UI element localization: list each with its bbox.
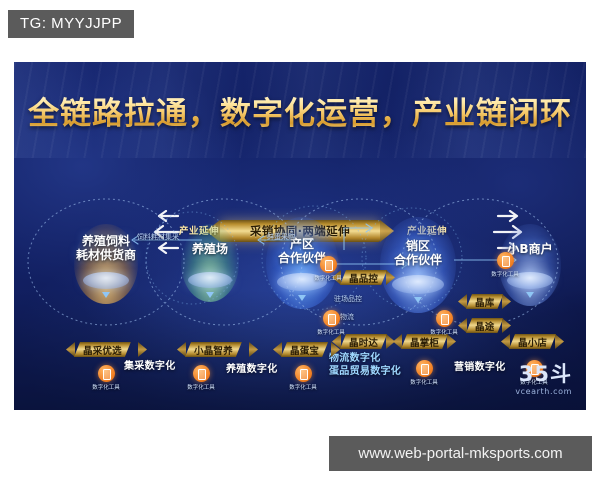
tool-supplier-label: 数字化工具 xyxy=(85,383,127,391)
tag-jingku[interactable]: 晶库 xyxy=(466,294,503,309)
node-supplier-title: 养殖饲料 耗材供货商 xyxy=(76,234,136,262)
tag-xiaojingzhiyang[interactable]: 小晶智养 xyxy=(185,342,242,357)
tool-seller-label: 数字化工具 xyxy=(403,378,445,386)
digital-tool-icon xyxy=(295,365,312,382)
tool-producer-label: 数字化工具 xyxy=(282,383,324,391)
caption-centralized-procurement: 集采数字化 xyxy=(124,357,176,372)
digital-tool-icon xyxy=(323,310,340,327)
caption-marketing-digital: 营销数字化 xyxy=(454,358,506,373)
node-seller-disc xyxy=(392,275,444,294)
tag-jingxiaodian-label: 晶小店 xyxy=(518,335,547,349)
tag-jingdanbao[interactable]: 晶蛋宝 xyxy=(281,342,328,357)
tool-warehouse-label: 数字化工具 xyxy=(484,270,526,278)
tool-farm[interactable]: 数字化工具 xyxy=(180,365,222,391)
node-farm-down-arrow xyxy=(206,292,214,298)
digital-tool-icon xyxy=(497,252,514,269)
tag-jingpinkong-label: 晶品控 xyxy=(349,271,378,285)
tag-jingcaiyouxuan[interactable]: 晶采优选 xyxy=(74,342,131,357)
tool-quality-label: 数字化工具 xyxy=(307,274,349,282)
caption-logistics-digital-line1: 物流数字化 xyxy=(329,353,401,366)
tag-jingshida[interactable]: 晶时达 xyxy=(340,334,387,349)
digital-tool-icon xyxy=(98,365,115,382)
tag-jingzhanggui[interactable]: 晶掌柜 xyxy=(401,334,448,349)
tool-route-label: 数字化工具 xyxy=(423,328,465,336)
node-supplier-title-line1: 养殖饲料 xyxy=(76,234,136,248)
tag-jingxiaodian[interactable]: 晶小店 xyxy=(509,334,556,349)
brand-logo-url: vcearth.com xyxy=(515,387,572,396)
flow-label-onsite-qc: 驻场品控 xyxy=(334,294,362,304)
node-seller-title: 销区 合作伙伴 xyxy=(394,239,442,267)
slide-image: 全链路拉通，数字化运营，产业链闭环 采销协同·两端延伸 产业延伸 产业延伸 xyxy=(14,62,586,410)
tag-jingzhanggui-label: 晶掌柜 xyxy=(410,335,439,349)
tool-seller[interactable]: 数字化工具 xyxy=(403,360,445,386)
node-seller-down-arrow xyxy=(414,297,422,303)
tool-logistics-label: 数字化工具 xyxy=(310,328,352,336)
tool-supplier[interactable]: 数字化工具 xyxy=(85,365,127,391)
tag-jingdanbao-label: 晶蛋宝 xyxy=(290,343,319,357)
node-farm-disc xyxy=(188,272,232,288)
node-seller-title-line1: 销区 xyxy=(394,239,442,253)
caption-logistics-digital-line2: 蛋品贸易数字化 xyxy=(329,366,401,379)
node-small-b-down-arrow xyxy=(526,292,534,298)
tg-tag: TG: MYYJJPP xyxy=(8,10,134,38)
flow-label-procurement: 饲料耗材集采 xyxy=(137,232,179,242)
node-supplier-down-arrow xyxy=(102,292,110,298)
node-farm-title: 养殖场 xyxy=(192,242,228,256)
tag-jingshida-label: 晶时达 xyxy=(349,335,378,349)
tool-warehouse[interactable]: 数字化工具 xyxy=(484,252,526,278)
node-supplier-disc xyxy=(83,272,129,289)
tool-producer[interactable]: 数字化工具 xyxy=(282,365,324,391)
brand-logo-mark: 35斗 xyxy=(515,364,572,385)
tool-logistics[interactable]: 数字化工具 xyxy=(310,310,352,336)
flow-label-egg-purchase: 鲜蛋采购 xyxy=(267,232,295,242)
tool-quality[interactable]: 数字化工具 xyxy=(307,256,349,282)
tag-jingku-label: 晶库 xyxy=(475,295,494,309)
digital-tool-icon xyxy=(320,256,337,273)
node-supplier-title-line2: 耗材供货商 xyxy=(76,248,136,262)
tag-jingcaiyouxuan-label: 晶采优选 xyxy=(83,343,122,357)
digital-tool-icon xyxy=(193,365,210,382)
tag-xiaojingzhiyang-label: 小晶智养 xyxy=(194,343,233,357)
node-producer-down-arrow xyxy=(298,295,306,301)
tool-route[interactable]: 数字化工具 xyxy=(423,310,465,336)
digital-tool-icon xyxy=(416,360,433,377)
tag-jingtu-label: 晶途 xyxy=(475,319,494,333)
node-seller-title-line2: 合作伙伴 xyxy=(394,253,442,267)
brand-logo: 35斗 vcearth.com xyxy=(515,364,572,396)
caption-breeding-digital: 养殖数字化 xyxy=(226,360,278,375)
tool-farm-label: 数字化工具 xyxy=(180,383,222,391)
digital-tool-icon xyxy=(436,310,453,327)
tag-jingtu[interactable]: 晶途 xyxy=(466,318,503,333)
site-watermark: www.web-portal-mksports.com xyxy=(329,436,592,471)
caption-logistics-digital: 物流数字化 蛋品贸易数字化 xyxy=(329,353,401,378)
